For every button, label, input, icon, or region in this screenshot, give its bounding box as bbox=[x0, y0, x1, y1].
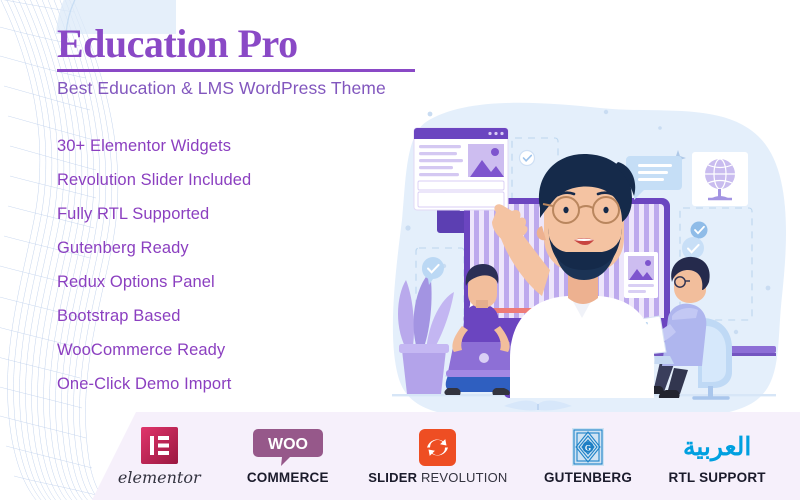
list-item: Fully RTL Supported bbox=[57, 204, 251, 224]
woocommerce-icon: WOO bbox=[253, 427, 323, 467]
elementor-logo[interactable]: elementor bbox=[111, 425, 207, 487]
svg-text:G: G bbox=[585, 444, 591, 453]
list-item: Gutenberg Ready bbox=[57, 238, 251, 258]
partner-logo-bar: elementor WOO COMMERCE bbox=[0, 412, 800, 500]
promo-banner: Education Pro Best Education & LMS WordP… bbox=[0, 0, 800, 500]
page-title: Education Pro bbox=[57, 22, 415, 66]
rtl-support-label: RTL SUPPORT bbox=[669, 470, 766, 485]
gutenberg-label: GUTENBERG bbox=[544, 470, 632, 485]
globe-icon bbox=[692, 152, 748, 206]
browser-card bbox=[414, 128, 508, 210]
page-subtitle: Best Education & LMS WordPress Theme bbox=[57, 78, 415, 99]
list-item: WooCommerce Ready bbox=[57, 340, 251, 360]
title-divider bbox=[57, 69, 415, 72]
svg-text:WOO: WOO bbox=[268, 436, 308, 453]
slider-revolution-logo[interactable]: SLIDER REVOLUTION bbox=[368, 427, 507, 485]
list-item: 30+ Elementor Widgets bbox=[57, 136, 251, 156]
gutenberg-icon: G bbox=[572, 427, 604, 467]
list-item: Revolution Slider Included bbox=[57, 170, 251, 190]
image-card bbox=[624, 252, 658, 298]
arabic-wordmark-icon: العربية bbox=[683, 427, 751, 467]
revolution-thin-text: REVOLUTION bbox=[421, 470, 508, 485]
list-item: Redux Options Panel bbox=[57, 272, 251, 292]
woocommerce-logo[interactable]: WOO COMMERCE bbox=[240, 427, 336, 485]
check-badge-icon bbox=[520, 151, 535, 166]
slider-revolution-icon bbox=[419, 427, 456, 467]
elementor-label: elementor bbox=[118, 468, 201, 487]
elementor-icon bbox=[141, 425, 178, 465]
feature-list: 30+ Elementor Widgets Revolution Slider … bbox=[57, 136, 251, 408]
rtl-support-logo[interactable]: العربية RTL SUPPORT bbox=[669, 427, 766, 485]
slider-bold-text: SLIDER bbox=[368, 470, 417, 485]
list-item: One-Click Demo Import bbox=[57, 374, 251, 394]
arabic-text: العربية bbox=[683, 432, 751, 462]
woocommerce-label: COMMERCE bbox=[247, 470, 329, 485]
headline-block: Education Pro Best Education & LMS WordP… bbox=[57, 22, 415, 99]
online-education-illustration bbox=[392, 100, 800, 430]
gutenberg-logo[interactable]: G GUTENBERG bbox=[540, 427, 636, 485]
list-item: Bootstrap Based bbox=[57, 306, 251, 326]
check-badge-icon bbox=[691, 222, 708, 239]
slider-revolution-label: SLIDER REVOLUTION bbox=[368, 470, 507, 485]
